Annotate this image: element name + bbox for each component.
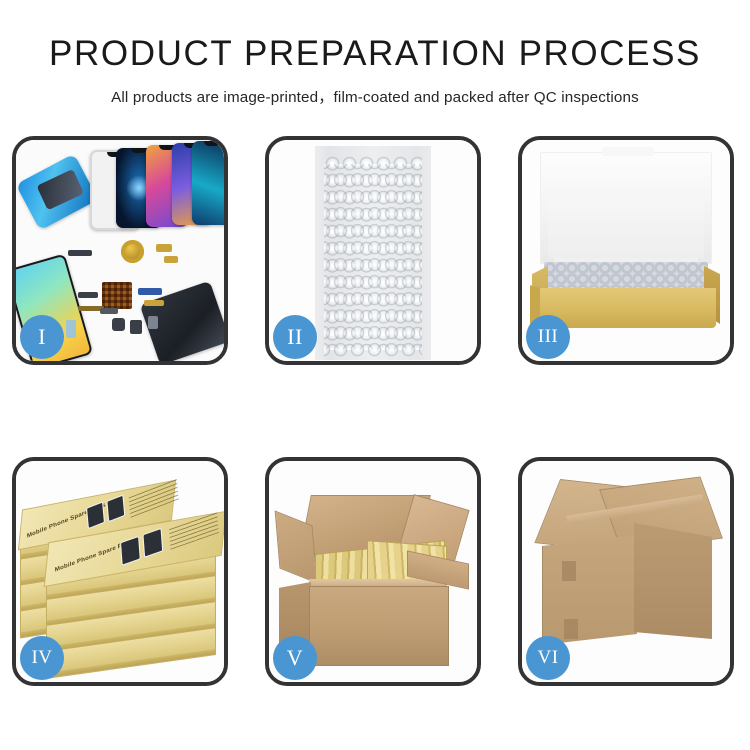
carton-front-face <box>542 535 637 645</box>
page-title: PRODUCT PREPARATION PROCESS <box>0 0 750 73</box>
bubble-wrapped-contents <box>544 262 708 290</box>
carton-handle-tab <box>562 561 576 581</box>
carton-handle-tab <box>564 619 578 639</box>
part-icon <box>100 308 118 314</box>
part-icon <box>148 316 158 329</box>
part-icon <box>78 292 98 298</box>
box-phone-thumbnail <box>106 494 125 522</box>
part-icon <box>130 320 142 334</box>
step-badge-6: VI <box>526 636 570 680</box>
part-icon <box>66 320 76 338</box>
step-panel-1: I <box>12 136 228 365</box>
part-icon <box>68 250 92 256</box>
teal-phone-icon <box>192 141 224 225</box>
box-phone-thumbnail <box>120 536 141 566</box>
step-badge-5: V <box>273 636 317 680</box>
step-panel-4: Mobile Phone Spare Parts Mobile Phone Sp… <box>12 457 228 686</box>
part-icon <box>144 300 164 306</box>
speaker-coil-icon <box>121 240 144 263</box>
chip-icon <box>102 282 132 309</box>
step-badge-1: I <box>20 315 64 359</box>
carton-side-face <box>634 523 712 639</box>
step-badge-4: IV <box>20 636 64 680</box>
mailer-foam-sheet <box>548 196 704 258</box>
step-panel-6: VI <box>518 457 734 686</box>
step-panel-5: V <box>265 457 481 686</box>
box-phone-thumbnail <box>142 528 163 558</box>
process-steps-grid: I II III <box>12 136 738 686</box>
page-header: PRODUCT PREPARATION PROCESS All products… <box>0 0 750 107</box>
step-badge-3: III <box>526 315 570 359</box>
box-spec-lines <box>169 512 219 550</box>
step-badge-2: II <box>273 315 317 359</box>
box-spec-lines <box>129 478 179 518</box>
part-icon <box>112 318 125 331</box>
carton-front-face <box>309 586 449 666</box>
page-subtitle: All products are image-printed，film-coat… <box>0 73 750 107</box>
part-icon <box>156 244 172 252</box>
box-phone-thumbnail <box>86 501 105 529</box>
step-panel-3: III <box>518 136 734 365</box>
blue-flex-screen-icon <box>16 154 98 231</box>
part-icon <box>138 288 162 295</box>
part-icon <box>164 256 178 263</box>
step-panel-2: II <box>265 136 481 365</box>
bubble-wrap-icon <box>315 146 431 360</box>
